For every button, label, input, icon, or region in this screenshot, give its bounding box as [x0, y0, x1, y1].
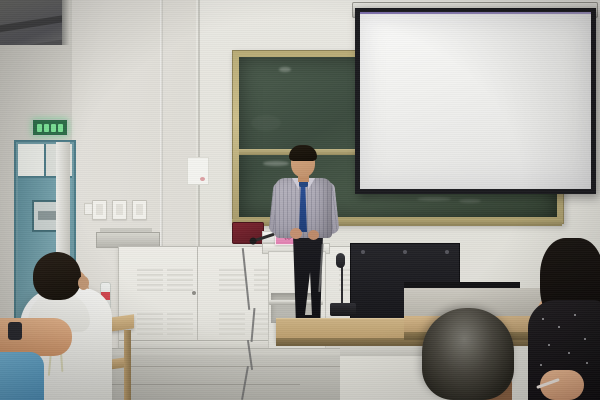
presenter-hair — [289, 145, 317, 161]
classroom-photo: 林学院 — [0, 0, 600, 400]
presenter-collar — [308, 178, 315, 190]
student-head-dark-hair — [33, 252, 81, 300]
exit-sign-icon — [32, 119, 68, 136]
red-case — [232, 222, 264, 244]
wall-corner — [160, 0, 163, 260]
audience-desk-leg — [124, 330, 131, 400]
projection-screen — [360, 14, 591, 189]
skirting-board — [112, 348, 340, 355]
student-blue-sleeve — [0, 352, 44, 400]
student-head-grey-hair — [422, 308, 514, 400]
light-switch[interactable] — [132, 200, 147, 220]
table-microphone-head[interactable] — [336, 253, 345, 268]
light-switch[interactable] — [92, 200, 107, 220]
light-switch[interactable] — [112, 200, 127, 220]
light-switch-panel[interactable] — [92, 200, 147, 220]
table-microphone-base[interactable] — [330, 303, 356, 316]
wristwatch — [8, 322, 22, 340]
student-ear — [78, 276, 89, 290]
presenter-right-hand — [308, 230, 319, 240]
presenter-left-hand — [290, 228, 302, 239]
wall-notice — [187, 157, 209, 185]
